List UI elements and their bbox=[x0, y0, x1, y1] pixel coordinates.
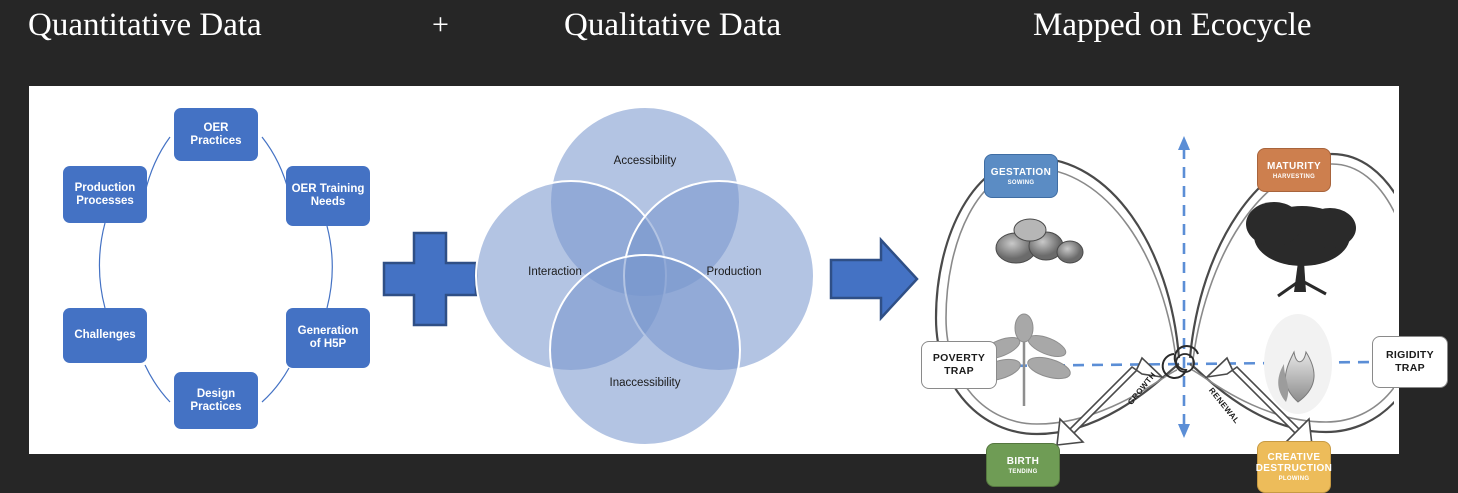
cycle-node-label: Design Practices bbox=[190, 388, 241, 414]
phase-subtitle: HARVESTING bbox=[1273, 174, 1315, 180]
ecocycle-rigidity-trap[interactable]: RIGIDITY TRAP bbox=[1372, 336, 1448, 388]
phase-title: BIRTH bbox=[1007, 456, 1040, 467]
cycle-node-label: OER Practices bbox=[190, 122, 241, 148]
phase-subtitle: SOWING bbox=[1008, 180, 1035, 186]
header-mapped-on-ecocycle: Mapped on Ecocycle bbox=[1033, 4, 1312, 46]
venn-label-interaction: Interaction bbox=[499, 266, 611, 278]
trap-label-line1: POVERTY bbox=[933, 352, 985, 365]
trap-label-line2: TRAP bbox=[1395, 362, 1425, 375]
cycle-node-label: Production Processes bbox=[75, 182, 136, 208]
cycle-node-oer-practices[interactable]: OER Practices bbox=[174, 108, 258, 161]
phase-title-line1: CREATIVE bbox=[1267, 452, 1320, 463]
trap-label-line1: RIGIDITY bbox=[1386, 349, 1434, 362]
header-row: Quantitative Data + Qualitative Data Map… bbox=[0, 0, 1458, 86]
venn-circle-inaccessibility[interactable] bbox=[549, 254, 741, 446]
ecocycle-phase-birth[interactable]: BIRTH TENDING bbox=[986, 443, 1060, 487]
slide-canvas: Quantitative Data + Qualitative Data Map… bbox=[0, 0, 1458, 490]
cycle-node-label: Challenges bbox=[74, 329, 135, 342]
phase-title: GESTATION bbox=[991, 167, 1051, 178]
venn-label-accessibility: Accessibility bbox=[589, 155, 701, 167]
header-qualitative-data: Qualitative Data bbox=[564, 4, 781, 46]
diagram-panel: OER Practices OER Training Needs Generat… bbox=[29, 86, 1399, 454]
ecocycle-phase-gestation[interactable]: GESTATION SOWING bbox=[984, 154, 1058, 198]
ecocycle-phase-creative-destruction[interactable]: CREATIVE DESTRUCTION PLOWING bbox=[1257, 441, 1331, 493]
cycle-node-label: OER Training Needs bbox=[292, 183, 365, 209]
header-quantitative-data: Quantitative Data bbox=[28, 4, 262, 46]
phase-subtitle: PLOWING bbox=[1279, 476, 1310, 482]
ecocycle-phase-maturity[interactable]: MATURITY HARVESTING bbox=[1257, 148, 1331, 192]
trap-label-line2: TRAP bbox=[944, 365, 974, 378]
cycle-node-label: Generation of H5P bbox=[298, 325, 359, 351]
qualitative-venn-diagram: Accessibility Interaction Production Ina… bbox=[470, 100, 820, 440]
ecocycle-diagram: GESTATION SOWING BIRTH TENDING MATURITY … bbox=[874, 96, 1394, 446]
cycle-node-design-practices[interactable]: Design Practices bbox=[174, 372, 258, 429]
quantitative-cycle-diagram: OER Practices OER Training Needs Generat… bbox=[49, 95, 369, 445]
header-plus-symbol: + bbox=[432, 4, 449, 46]
cycle-node-generation-of-h5p[interactable]: Generation of H5P bbox=[286, 308, 370, 368]
phase-subtitle: TENDING bbox=[1008, 469, 1037, 475]
plus-symbol-icon bbox=[380, 229, 480, 329]
venn-label-inaccessibility: Inaccessibility bbox=[589, 377, 701, 389]
cycle-node-challenges[interactable]: Challenges bbox=[63, 308, 147, 363]
phase-title: MATURITY bbox=[1267, 161, 1321, 172]
cycle-node-production-processes[interactable]: Production Processes bbox=[63, 166, 147, 223]
cycle-node-oer-training-needs[interactable]: OER Training Needs bbox=[286, 166, 370, 226]
phase-title-line2: DESTRUCTION bbox=[1256, 463, 1333, 474]
ecocycle-poverty-trap[interactable]: POVERTY TRAP bbox=[921, 341, 997, 389]
venn-label-production: Production bbox=[678, 266, 790, 278]
